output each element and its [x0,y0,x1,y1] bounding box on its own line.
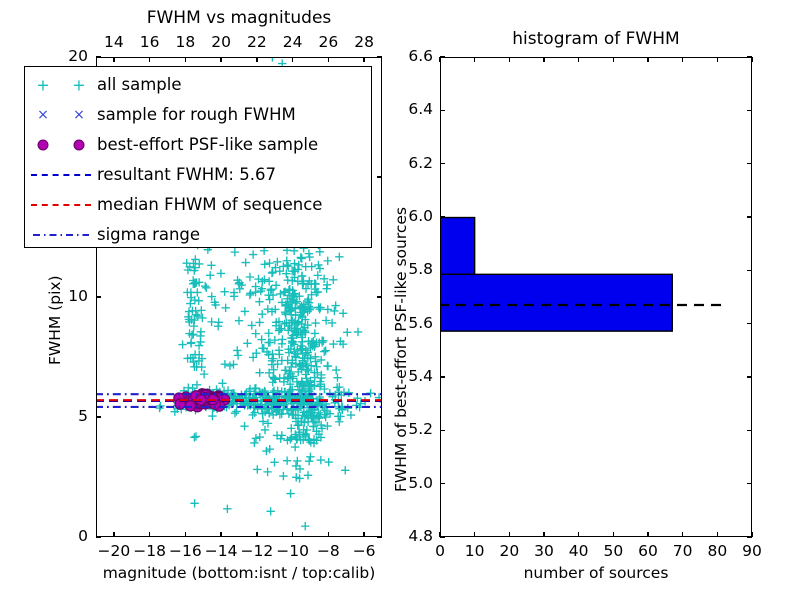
y-tick-label: 6.6 [393,49,433,65]
y-tick-label: 0 [54,529,88,545]
scatter-plot-title: FWHM vs magnitudes [96,10,382,27]
legend-item-psf-sample: best-effort PSF-like sample [25,130,371,160]
legend-handle-all-sample: + + [25,70,97,100]
y-tick-label: 6.4 [393,102,433,118]
dashed-line-icon [31,174,91,176]
axis-tick [747,536,752,537]
plus-marker: + [36,76,49,95]
axis-tick [96,536,101,537]
legend-item-median-fwhm: median FHWM of sequence [25,190,371,220]
legend-label-resultant-fwhm: resultant FWHM: 5.67 [97,167,276,184]
cross-marker: × [37,107,49,123]
histogram-y-axis-label: FWHM of best-effort PSF-like sources [394,207,410,492]
y-tick-label: 4.8 [393,529,433,545]
figure-canvas: FWHM vs magnitudes 1416182022242628 −20−… [0,0,800,600]
top-x-tick-label: 16 [132,35,168,51]
cross-marker: × [73,107,85,123]
top-x-tick-label: 28 [346,35,382,51]
histogram-plot-title: histogram of FWHM [440,31,752,48]
top-x-tick-label: 14 [96,35,132,51]
top-x-tick-label: 26 [310,35,346,51]
top-x-tick-label: 24 [275,35,311,51]
circle-marker [38,140,49,151]
dash-dot-line-icon [25,220,97,250]
circle-marker [74,140,85,151]
axis-tick [440,536,445,537]
y-tick-label: 5 [54,409,88,425]
axis-tick [751,57,752,62]
top-x-tick-label: 22 [239,35,275,51]
y-tick-label: 20 [54,49,88,65]
histogram-bar [441,274,672,331]
legend-item-rough-sample: × × sample for rough FWHM [25,100,371,130]
legend-item-sigma-range: sigma range [25,220,371,250]
legend-label-sigma-range: sigma range [97,227,200,244]
legend-label-psf-sample: best-effort PSF-like sample [97,137,318,154]
scatter-x-axis-label: magnitude (bottom:isnt / top:calib) [96,566,382,582]
legend: + + all sample × × sample for rough FWHM… [24,66,372,248]
histogram-x-axis-label: number of sources [440,566,752,582]
legend-label-median-fwhm: median FHWM of sequence [97,197,322,214]
legend-item-resultant-fwhm: resultant FWHM: 5.67 [25,160,371,190]
top-x-tick-label: 20 [203,35,239,51]
scatter-y-axis-label: FWHM (pix) [48,275,64,365]
legend-handle-sigma-range [25,220,97,250]
legend-handle-rough-sample: × × [25,100,97,130]
x-tick-label: −6 [342,544,386,560]
top-x-tick-label: 18 [167,35,203,51]
legend-handle-psf-sample [25,130,97,160]
y-tick-label: 6.2 [393,156,433,172]
legend-handle-resultant-fwhm [25,160,97,190]
histogram-bars-layer [441,58,751,536]
axis-tick [377,536,382,537]
legend-item-all-sample: + + all sample [25,70,371,100]
plus-marker: + [72,76,85,95]
legend-label-rough-sample: sample for rough FWHM [97,107,296,124]
histogram-bar [441,218,475,275]
legend-handle-median-fwhm [25,190,97,220]
x-tick-label: 90 [732,544,772,560]
legend-label-all-sample: all sample [97,77,182,94]
dashed-line-icon [31,204,91,206]
histogram-data-area [441,58,751,536]
